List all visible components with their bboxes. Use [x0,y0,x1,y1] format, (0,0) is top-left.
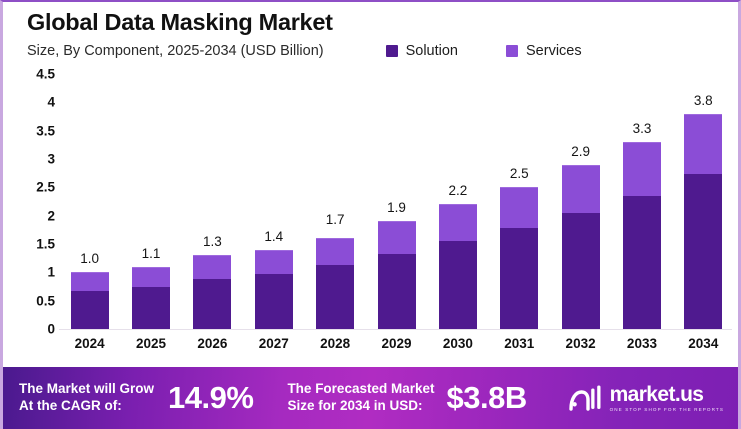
bar-value-label: 2.9 [571,144,590,159]
bar-value-label: 1.7 [326,212,345,227]
bar-segment-services[interactable] [132,267,170,287]
chart-legend: Solution Services [386,43,582,59]
chart-subtitle: Size, By Component, 2025-2034 (USD Billi… [27,43,324,59]
x-axis-tick: 2024 [75,336,105,351]
x-axis-tick: 2027 [259,336,289,351]
market-us-logo-icon [569,385,603,411]
bar-value-label: 3.3 [633,121,652,136]
x-axis-tick: 2032 [566,336,596,351]
bar-value-label: 1.4 [264,229,283,244]
bar-column[interactable]: 2.5 [500,187,538,329]
bar-segment-solution[interactable] [623,196,661,329]
bar-value-label: 2.2 [448,183,467,198]
plot-area: 00.511.522.533.544.5 1.01.11.31.41.71.92… [3,74,741,369]
y-axis: 00.511.522.533.544.5 [3,74,55,329]
cagr-value: 14.9% [168,380,253,416]
infographic-chart: Global Data Masking Market Size, By Comp… [0,0,741,429]
bar-segment-solution[interactable] [684,174,722,329]
logo-text-block: market.us ONE STOP SHOP FOR THE REPORTS [610,384,724,413]
bar-segment-services[interactable] [255,250,293,274]
bar-segment-services[interactable] [193,255,231,279]
y-axis-tick: 2 [3,208,55,223]
forecast-label: The Forecasted Market Size for 2034 in U… [287,381,434,415]
bar-segment-services[interactable] [316,238,354,265]
bar-segment-solution[interactable] [132,287,170,330]
bar-column[interactable]: 3.3 [623,142,661,329]
logo-wordmark: market.us [610,384,724,405]
forecast-label-line1: The Forecasted Market [287,381,434,396]
cagr-label: The Market will Grow At the CAGR of: [19,381,154,415]
bar-segment-solution[interactable] [562,213,600,329]
x-axis-tick: 2029 [381,336,411,351]
bar-column[interactable]: 1.9 [378,221,416,329]
legend-swatch-solution [386,45,398,57]
bar-segment-services[interactable] [684,114,722,175]
axis-baseline [59,329,732,330]
bar-segment-solution[interactable] [71,291,109,329]
logo-tagline: ONE STOP SHOP FOR THE REPORTS [610,408,724,413]
bar-column[interactable]: 2.9 [562,165,600,329]
bar-value-label: 3.8 [694,93,713,108]
bar-segment-services[interactable] [623,142,661,196]
page-title: Global Data Masking Market [27,10,716,36]
footer-banner: The Market will Grow At the CAGR of: 14.… [3,367,738,429]
y-axis-tick: 0 [3,322,55,337]
bar-value-label: 2.5 [510,166,529,181]
bar-segment-solution[interactable] [378,254,416,329]
x-axis-tick: 2030 [443,336,473,351]
chart-header: Global Data Masking Market Size, By Comp… [3,2,738,72]
subtitle-legend-row: Size, By Component, 2025-2034 (USD Billi… [27,43,716,59]
y-axis-tick: 4 [3,95,55,110]
bar-value-label: 1.0 [80,251,99,266]
y-axis-tick: 1.5 [3,237,55,252]
forecast-value: $3.8B [447,380,527,416]
bar-segment-services[interactable] [439,204,477,241]
bar-segment-services[interactable] [71,272,109,291]
cagr-label-line1: The Market will Grow [19,381,154,396]
y-axis-tick: 2.5 [3,180,55,195]
x-axis-tick: 2025 [136,336,166,351]
bar-segment-services[interactable] [500,187,538,228]
cagr-label-line2: At the CAGR of: [19,398,122,413]
y-axis-tick: 3 [3,152,55,167]
bar-column[interactable]: 1.4 [255,250,293,329]
bar-segment-services[interactable] [378,221,416,253]
bar-segment-services[interactable] [562,165,600,213]
bar-column[interactable]: 3.8 [684,114,722,329]
y-axis-tick: 4.5 [3,67,55,82]
bar-column[interactable]: 1.1 [132,267,170,329]
x-axis-tick: 2028 [320,336,350,351]
legend-swatch-services [506,45,518,57]
market-us-logo[interactable]: market.us ONE STOP SHOP FOR THE REPORTS [569,384,724,413]
legend-item-solution: Solution [386,43,458,59]
x-axis-tick: 2034 [688,336,718,351]
bar-value-label: 1.9 [387,200,406,215]
y-axis-tick: 3.5 [3,123,55,138]
bar-column[interactable]: 2.2 [439,204,477,329]
bar-segment-solution[interactable] [255,274,293,329]
bar-column[interactable]: 1.0 [71,272,109,329]
y-axis-tick: 1 [3,265,55,280]
bar-column[interactable]: 1.3 [193,255,231,329]
bar-value-label: 1.3 [203,234,222,249]
y-axis-tick: 0.5 [3,293,55,308]
bars-container: 1.01.11.31.41.71.92.22.52.93.33.8 [59,74,734,329]
bar-column[interactable]: 1.7 [316,233,354,329]
bar-segment-solution[interactable] [193,279,231,329]
bar-segment-solution[interactable] [316,265,354,329]
x-axis-tick: 2031 [504,336,534,351]
x-axis: 2024202520262027202820292030203120322033… [59,336,734,360]
legend-label-solution: Solution [406,43,458,59]
legend-label-services: Services [526,43,582,59]
bar-value-label: 1.1 [142,246,161,261]
legend-item-services: Services [506,43,582,59]
bar-segment-solution[interactable] [439,241,477,329]
bar-segment-solution[interactable] [500,228,538,329]
x-axis-tick: 2026 [197,336,227,351]
x-axis-tick: 2033 [627,336,657,351]
forecast-label-line2: Size for 2034 in USD: [287,398,422,413]
